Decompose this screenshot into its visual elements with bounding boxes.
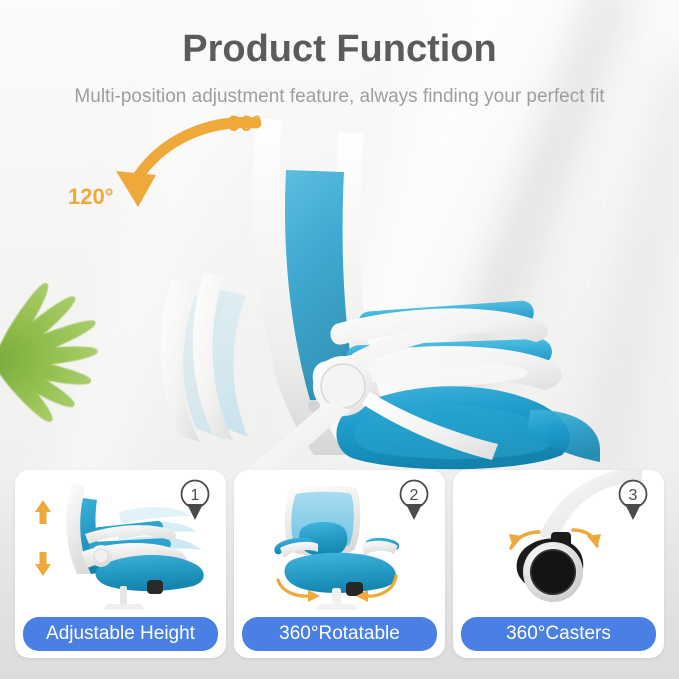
feature-card-adjustable-height[interactable]: 1 Adjustable Height [15,470,226,658]
feature-card-row: 1 Adjustable Height [15,470,664,658]
card-label-1: Adjustable Height [23,617,218,651]
page-subtitle: Multi-position adjustment feature, alway… [0,86,679,108]
angle-label-reclined: 120° [68,184,114,210]
pin-badge-2: 2 [397,478,431,523]
card-label-2: 360°Rotatable [242,617,437,651]
up-down-arrows-icon [35,500,51,576]
pin-badge-3: 3 [616,478,650,523]
card-label-3: 360°Casters [461,617,656,651]
feature-card-casters[interactable]: 3 360°Casters [453,470,664,658]
page-title: Product Function [0,29,679,71]
pin-number-2: 2 [410,487,419,504]
pin-number-3: 3 [629,487,638,504]
pin-badge-1: 1 [178,478,212,523]
plant-decoration [0,258,104,468]
product-function-graphic: 90° 120° Product Function Multi-position… [0,0,679,679]
feature-card-rotatable[interactable]: 2 360°Rotatable [234,470,445,658]
angle-label-upright: 90° [228,111,261,137]
pin-number-1: 1 [191,487,200,504]
